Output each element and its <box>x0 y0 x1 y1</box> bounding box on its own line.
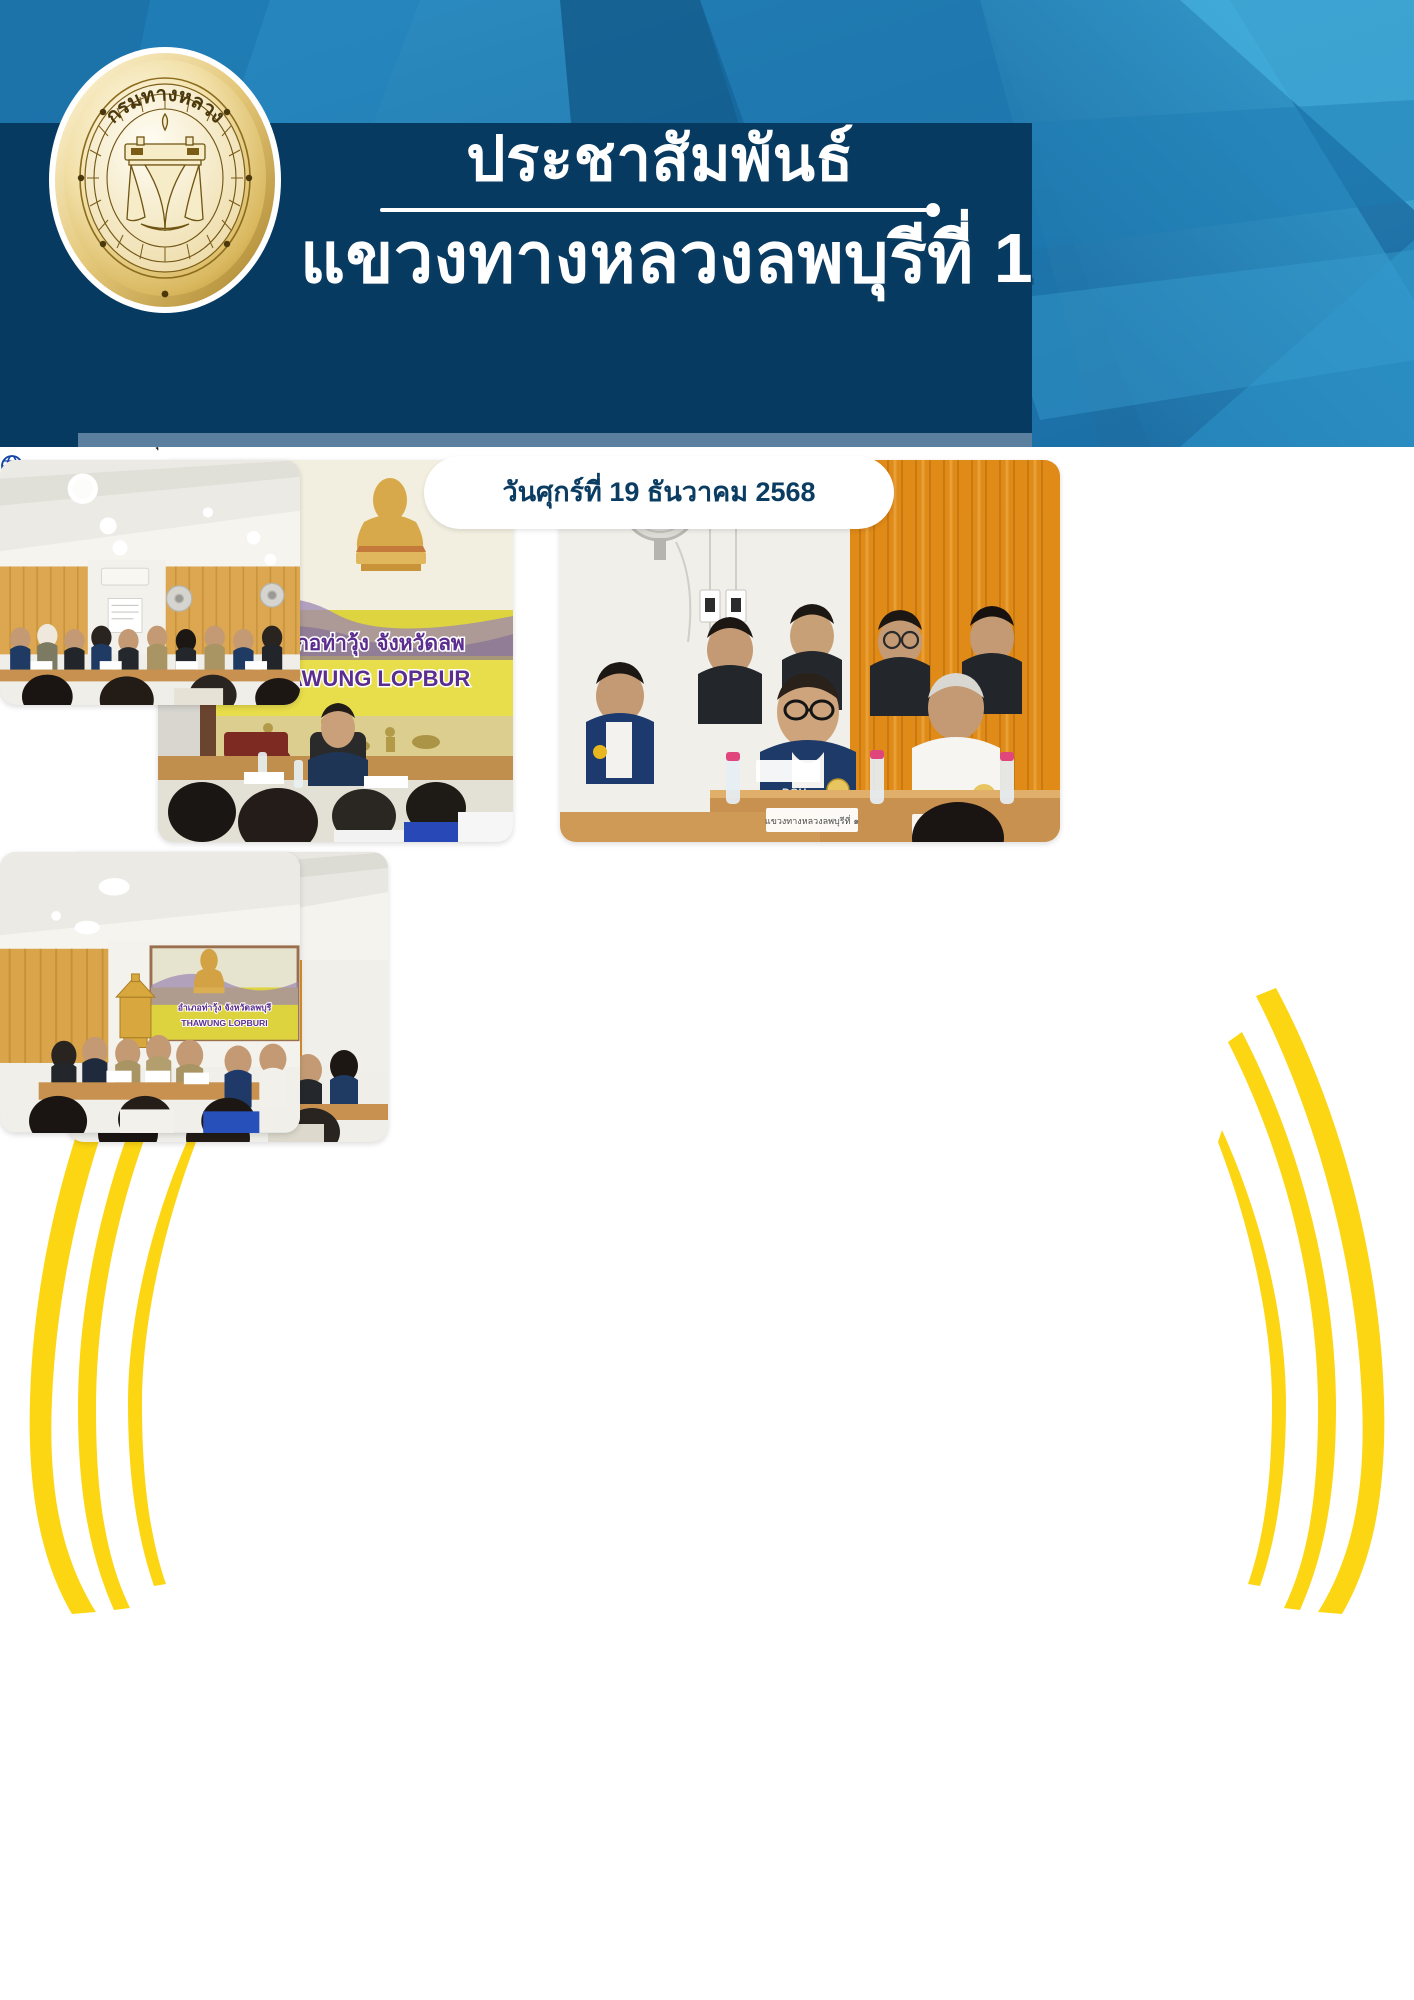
title-divider <box>380 198 940 220</box>
photo-4: อำเภอท่าวุ้ง จังหวัดลพบุรี THAWUNG LOPBU… <box>0 852 300 1133</box>
page-kicker: ประชาสัมพันธ์ <box>300 128 1020 192</box>
photo-5 <box>0 460 300 705</box>
header-text-block: ประชาสัมพันธ์ แขวงทางหลวงลพบุรีที่ 1 <box>300 128 1020 296</box>
svg-text:THAWUNG LOPBURI: THAWUNG LOPBURI <box>181 1018 267 1028</box>
divider-dot <box>926 203 940 217</box>
poster-root: ประชาสัมพันธ์ แขวงทางหลวงลพบุรีที่ 1 <box>0 0 1414 2000</box>
department-of-highways-logo: กรมทางหลวง <box>45 42 285 317</box>
divider-line <box>380 208 928 212</box>
page-title: แขวงทางหลวงลพบุรีที่ 1 <box>300 222 1020 296</box>
header-sub-band <box>78 433 1032 447</box>
yellow-brush-decor-right <box>1218 980 1414 1620</box>
date-badge: วันศุกร์ที่ 19 ธันวาคม 2568 <box>424 456 894 529</box>
svg-text:อำเภอท่าวุ้ง จังหวัดลพบุรี: อำเภอท่าวุ้ง จังหวัดลพบุรี <box>178 1003 272 1014</box>
